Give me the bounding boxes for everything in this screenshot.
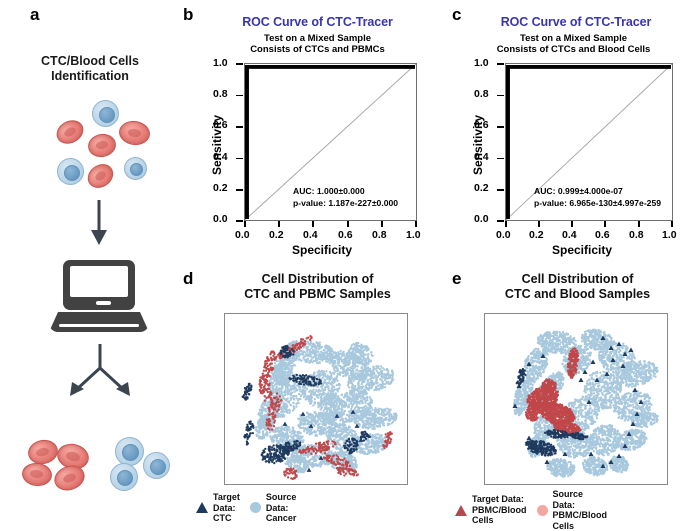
panel-b-xtick-1.0: 1.0 [406,229,421,241]
panel-b-xtickmark [244,221,246,227]
triangle-marker-icon [455,505,467,516]
circle-marker-icon [250,502,261,513]
panel-b-xtick-0.8: 0.8 [372,229,387,241]
panel-c-xtickmark [671,221,673,227]
panel-e-title-line2: CTC and Blood Samples [465,287,690,302]
white-blood-cell-icon [110,463,138,491]
panel-c-ytick-0.2: 0.2 [474,182,489,194]
white-blood-cell-icon [115,437,144,466]
panel-c-ytick-0.0: 0.0 [474,213,489,225]
panel-c-xtick-0.6: 0.6 [595,229,610,241]
red-blood-cell-icon [86,132,118,160]
panel-b-ytickmark [236,158,243,160]
panel-d-plot-area [224,313,408,485]
panel-c-ytickmark [497,220,504,222]
panel-c-subtitle: Test on a Mixed Sample Consists of CTCs … [455,33,692,55]
panel-b-ytick-0.0: 0.0 [213,213,228,225]
arrow-down-icon [88,200,110,246]
red-blood-cell-icon [117,119,151,147]
panel-letter-a: a [30,6,39,23]
panel-b-ytickmark [236,95,243,97]
panel-c-ytick-1.0: 1.0 [474,57,489,69]
panel-c-xtickmark [604,221,606,227]
white-blood-cell-icon [92,100,119,127]
panel-c-xlabel: Specificity [552,243,612,257]
panel-letter-b: b [183,6,193,23]
laptop-icon [49,260,149,334]
panel-c-subtitle-line1: Test on a Mixed Sample [455,33,692,44]
panel-c-plot-area: AUC: 0.999±4.000e-07 p-value: 6.965e-130… [505,63,673,221]
panel-b-auc-text: AUC: 1.000±0.000 [293,186,365,197]
laptop-base [49,312,149,332]
arrow-split-icon [62,344,138,404]
white-blood-cell-icon [57,158,84,185]
panel-b-plot-area: AUC: 1.000±0.000 p-value: 1.187e-227±0.0… [244,63,417,221]
panel-c-title: ROC Curve of CTC-Tracer [460,15,692,29]
panel-b-subtitle-line1: Test on a Mixed Sample [200,33,435,44]
panel-b-title: ROC Curve of CTC-Tracer [200,15,435,29]
circle-marker-icon [537,505,548,516]
white-blood-cell-icon [143,452,170,479]
panel-b-ytickmark [236,126,243,128]
panel-a: a CTC/Blood Cells Identification [0,0,180,519]
panel-b-ytickmark [236,63,243,65]
laptop-screen [63,260,135,310]
panel-b-ytickmark [236,220,243,222]
legend-label: Target Data: PBMC/Blood Cells [472,494,527,526]
panel-c-ytickmark [497,95,504,97]
panel-c-xtick-0.8: 0.8 [629,229,644,241]
panel-a-title-line2: Identification [0,69,180,84]
legend-label: Source Data: PBMC/Blood Cells [553,489,608,531]
panel-c-ytickmark [497,63,504,65]
panel-b-xlabel: Specificity [292,243,352,257]
panel-d-title-line2: CTC and PBMC Samples [205,287,430,302]
panel-e-plot-area [484,313,668,485]
tsne-scatter-e [485,314,668,485]
panel-b-ytick-1.0: 1.0 [213,57,228,69]
panel-d-title-line1: Cell Distribution of [205,272,430,287]
panel-c-xtickmark [638,221,640,227]
panel-d-title: Cell Distribution of CTC and PBMC Sample… [205,272,430,302]
panel-b-pvalue-text: p-value: 1.187e-227±0.000 [293,198,398,209]
panel-e-title: Cell Distribution of CTC and Blood Sampl… [465,272,690,302]
panel-c-subtitle-line2: Consists of CTCs and Blood Cells [455,44,692,55]
panel-a-title-line1: CTC/Blood Cells [0,54,180,69]
panel-c-pvalue-text: p-value: 6.965e-130±4.997e-259 [534,198,661,209]
panel-b-xtickmark [381,221,383,227]
legend-item-target-pbmc: Target Data: PBMC/Blood Cells [455,494,527,526]
panel-c-xtick-0.2: 0.2 [529,229,544,241]
panel-b-xtickmark [278,221,280,227]
panel-b-subtitle: Test on a Mixed Sample Consists of CTCs … [200,33,435,55]
panel-c-ytickmark [497,126,504,128]
red-blood-cell-icon [52,116,87,149]
panel-letter-d: d [183,270,193,287]
panel-b-ytick-0.8: 0.8 [213,88,228,100]
panel-c-ytickmark [497,189,504,191]
triangle-marker-icon [196,502,208,513]
panel-b-xtickmark [312,221,314,227]
legend-item-source-pbmc: Source Data: PBMC/Blood Cells [537,489,608,531]
panel-c-ytick-0.8: 0.8 [474,88,489,100]
white-blood-cell-icon [124,157,147,180]
panel-c-xtickmark [505,221,507,227]
red-blood-cell-icon [21,461,53,487]
panel-c-ylabel: Sensitivity [471,115,485,175]
panel-c-xtickmark [538,221,540,227]
panel-c-xtick-0.4: 0.4 [562,229,577,241]
panel-b-xtick-0.2: 0.2 [269,229,284,241]
panel-c-xtick-1.0: 1.0 [662,229,677,241]
panel-b-xtickmark [347,221,349,227]
panel-c-xtickmark [571,221,573,227]
red-blood-cell-icon [83,159,118,193]
panel-e-legend: Target Data: PBMC/Blood Cells Source Dat… [455,489,617,531]
tsne-scatter-d [225,314,408,485]
panel-c-ytickmark [497,158,504,160]
panel-b-ylabel: Sensitivity [210,115,224,175]
panel-b-xtick-0.0: 0.0 [235,229,250,241]
panel-b-ytickmark [236,189,243,191]
panel-e-title-line1: Cell Distribution of [465,272,690,287]
panel-letter-e: e [452,270,461,287]
panel-b-xtickmark [415,221,417,227]
panel-b-subtitle-line2: Consists of CTCs and PBMCs [200,44,435,55]
panel-a-title: CTC/Blood Cells Identification [0,54,180,84]
panel-b-xtick-0.6: 0.6 [338,229,353,241]
panel-c-auc-text: AUC: 0.999±4.000e-07 [534,186,623,197]
panel-c-xtick-0.0: 0.0 [496,229,511,241]
panel-b-ytick-0.2: 0.2 [213,182,228,194]
panel-b-xtick-0.4: 0.4 [303,229,318,241]
